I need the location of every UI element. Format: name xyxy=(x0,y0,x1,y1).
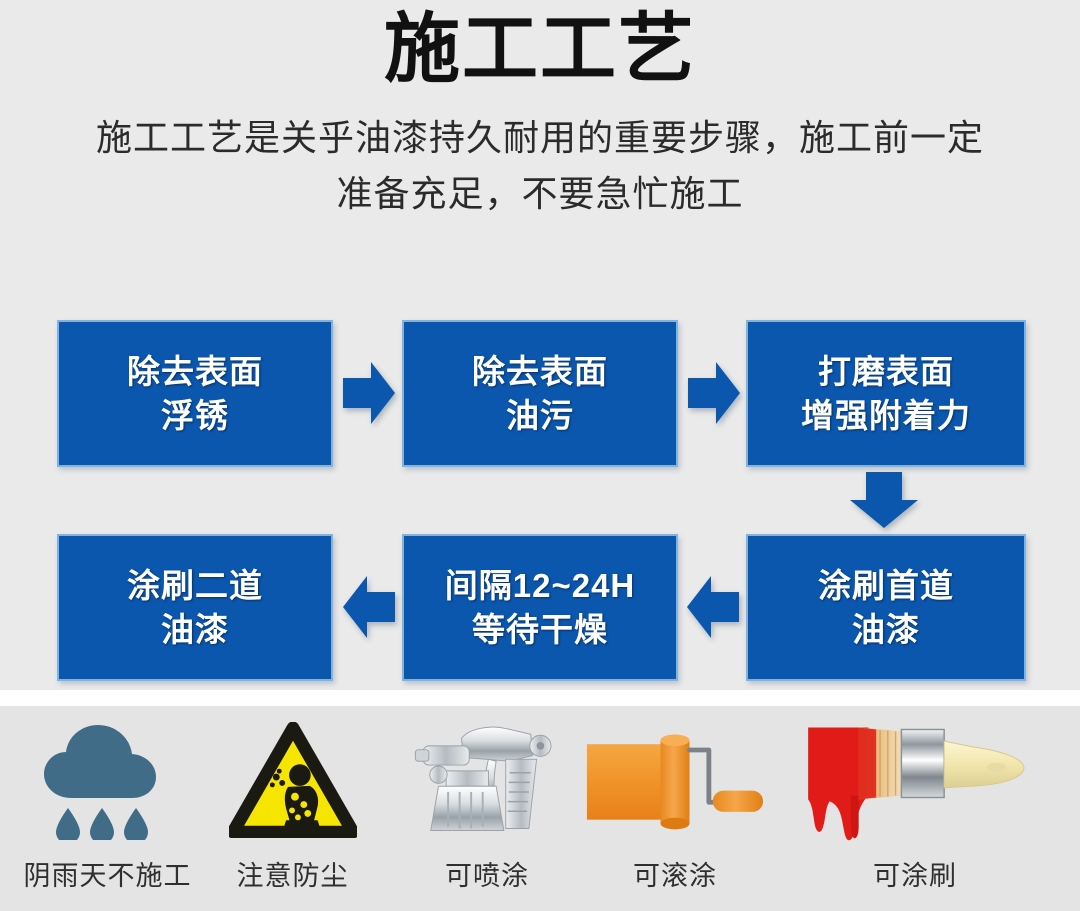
flow-step-1-line1: 除去表面 xyxy=(127,350,263,394)
method-item-dust-warning[interactable]: 注意防尘 xyxy=(210,706,375,911)
arrow-right-icon xyxy=(688,358,740,428)
flow-step-5-line2: 等待干燥 xyxy=(472,608,608,652)
application-methods-strip: 阴雨天不施工 xyxy=(0,706,1080,911)
rain-cloud-icon xyxy=(10,712,205,847)
method-item-brush[interactable]: 可涂刷 xyxy=(790,706,1040,911)
method-item-rainy-day[interactable]: 阴雨天不施工 xyxy=(10,706,205,911)
section-divider xyxy=(0,690,1080,706)
flow-step-5[interactable]: 间隔12~24H 等待干燥 xyxy=(402,534,678,681)
method-label-rainy-day: 阴雨天不施工 xyxy=(10,854,205,893)
flow-step-6-line2: 油漆 xyxy=(161,608,229,652)
flow-step-1-line2: 浮锈 xyxy=(161,394,229,438)
spray-gun-icon xyxy=(392,712,582,847)
flow-step-6[interactable]: 涂刷二道 油漆 xyxy=(57,534,333,681)
method-item-roller[interactable]: 可滚涂 xyxy=(580,706,770,911)
flow-step-1[interactable]: 除去表面 浮锈 xyxy=(57,320,333,467)
flow-step-2[interactable]: 除去表面 油污 xyxy=(402,320,678,467)
method-label-dust-warning: 注意防尘 xyxy=(210,854,375,893)
arrow-left-icon xyxy=(687,572,739,642)
method-label-roller: 可滚涂 xyxy=(580,854,770,893)
flow-step-3-line2: 增强附着力 xyxy=(801,394,971,438)
flow-step-3[interactable]: 打磨表面 增强附着力 xyxy=(746,320,1026,467)
method-label-brush: 可涂刷 xyxy=(790,854,1040,893)
process-flow-diagram: 除去表面 浮锈 除去表面 油污 打磨表面 增强附着力 涂刷首道 油漆 间隔12~… xyxy=(0,300,1080,690)
page-title: 施工工艺 xyxy=(0,0,1080,98)
method-item-spray[interactable]: 可喷涂 xyxy=(392,706,582,911)
flow-step-4-line2: 油漆 xyxy=(852,608,920,652)
flow-step-2-line2: 油污 xyxy=(506,394,574,438)
paint-brush-icon xyxy=(790,712,1040,847)
flow-step-4[interactable]: 涂刷首道 油漆 xyxy=(746,534,1026,681)
arrow-down-icon xyxy=(848,472,920,528)
dust-warning-icon xyxy=(210,712,375,847)
flow-step-6-line1: 涂刷二道 xyxy=(127,564,263,608)
arrow-left-icon xyxy=(343,572,395,642)
arrow-right-icon xyxy=(343,358,395,428)
paint-roller-icon xyxy=(580,712,770,847)
flow-step-5-line1: 间隔12~24H xyxy=(445,564,636,608)
method-label-spray: 可喷涂 xyxy=(392,854,582,893)
header: 施工工艺 施工工艺是关乎油漆持久耐用的重要步骤，施工前一定准备充足，不要急忙施工 xyxy=(0,0,1080,300)
flow-step-4-line1: 涂刷首道 xyxy=(818,564,954,608)
flow-step-3-line1: 打磨表面 xyxy=(818,350,954,394)
flow-step-2-line1: 除去表面 xyxy=(472,350,608,394)
page-subtitle: 施工工艺是关乎油漆持久耐用的重要步骤，施工前一定准备充足，不要急忙施工 xyxy=(0,110,1080,222)
